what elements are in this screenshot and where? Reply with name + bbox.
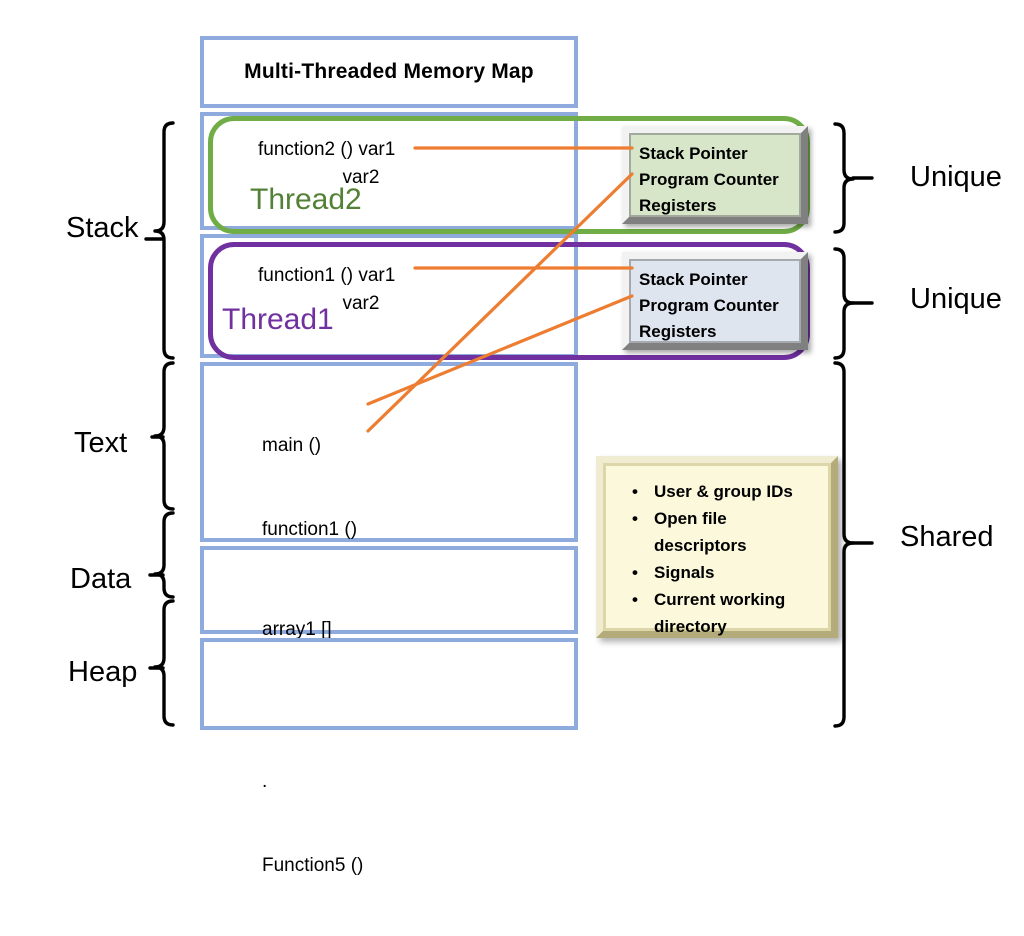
text-line-main: main (): [262, 432, 574, 460]
bracket-unique-thread2: [835, 124, 853, 232]
segment-heap: [200, 638, 578, 730]
text-line-function5: Function5 (): [262, 852, 574, 880]
label-shared: Shared: [900, 520, 994, 554]
shared-item-label: Open file descriptors: [654, 509, 747, 555]
list-item: • User & group IDs: [632, 478, 822, 505]
shared-item-label: Current working directory: [654, 590, 785, 636]
label-unique-thread1: Unique: [910, 282, 1002, 316]
shared-item-label: User & group IDs: [654, 482, 793, 501]
thread1-program-counter: Program Counter: [639, 293, 801, 319]
thread2-register-list: Stack Pointer Program Counter Registers: [629, 133, 801, 217]
bullet-icon: •: [632, 586, 638, 613]
bracket-heap: [155, 601, 173, 725]
segment-text: main () function1 () function2 () . . Fu…: [200, 362, 578, 542]
label-text: Text: [74, 426, 127, 460]
label-stack: Stack: [66, 211, 139, 245]
thread1-register-list: Stack Pointer Program Counter Registers: [629, 259, 801, 343]
thread1-register-box: Stack Pointer Program Counter Registers: [622, 252, 808, 350]
thread2-register-box: Stack Pointer Program Counter Registers: [622, 126, 808, 224]
shared-item-label: Signals: [654, 563, 714, 582]
label-unique-thread2: Unique: [910, 160, 1002, 194]
thread1-stack-pointer: Stack Pointer: [639, 267, 801, 293]
thread2-program-counter: Program Counter: [639, 167, 801, 193]
thread1-registers: Registers: [639, 319, 801, 345]
thread2-stack-pointer: Stack Pointer: [639, 141, 801, 167]
diagram-canvas: Multi-Threaded Memory Map main () functi…: [0, 0, 1024, 778]
bracket-data: [155, 513, 173, 597]
bracket-text: [155, 363, 173, 509]
bracket-stack: [155, 123, 173, 358]
list-item: • Open file descriptors: [632, 505, 822, 559]
list-item: • Signals: [632, 559, 822, 586]
list-item: • Current working directory: [632, 586, 822, 640]
bullet-icon: •: [632, 505, 638, 532]
thread2-name: Thread2: [250, 183, 362, 217]
thread1-name: Thread1: [222, 303, 334, 337]
text-line-function1: function1 (): [262, 516, 574, 544]
thread2-registers: Registers: [639, 193, 801, 219]
memory-map-title-row: Multi-Threaded Memory Map: [200, 36, 578, 108]
page-title: Multi-Threaded Memory Map: [244, 60, 534, 84]
shared-resources-list: • User & group IDs • Open file descripto…: [606, 466, 828, 640]
bullet-icon: •: [632, 559, 638, 586]
label-data: Data: [70, 562, 131, 596]
label-heap: Heap: [68, 655, 137, 689]
bracket-unique-thread1: [835, 249, 853, 358]
shared-resources-note: • User & group IDs • Open file descripto…: [596, 456, 838, 638]
bullet-icon: •: [632, 478, 638, 505]
segment-data: array1 [] array2 []: [200, 546, 578, 634]
